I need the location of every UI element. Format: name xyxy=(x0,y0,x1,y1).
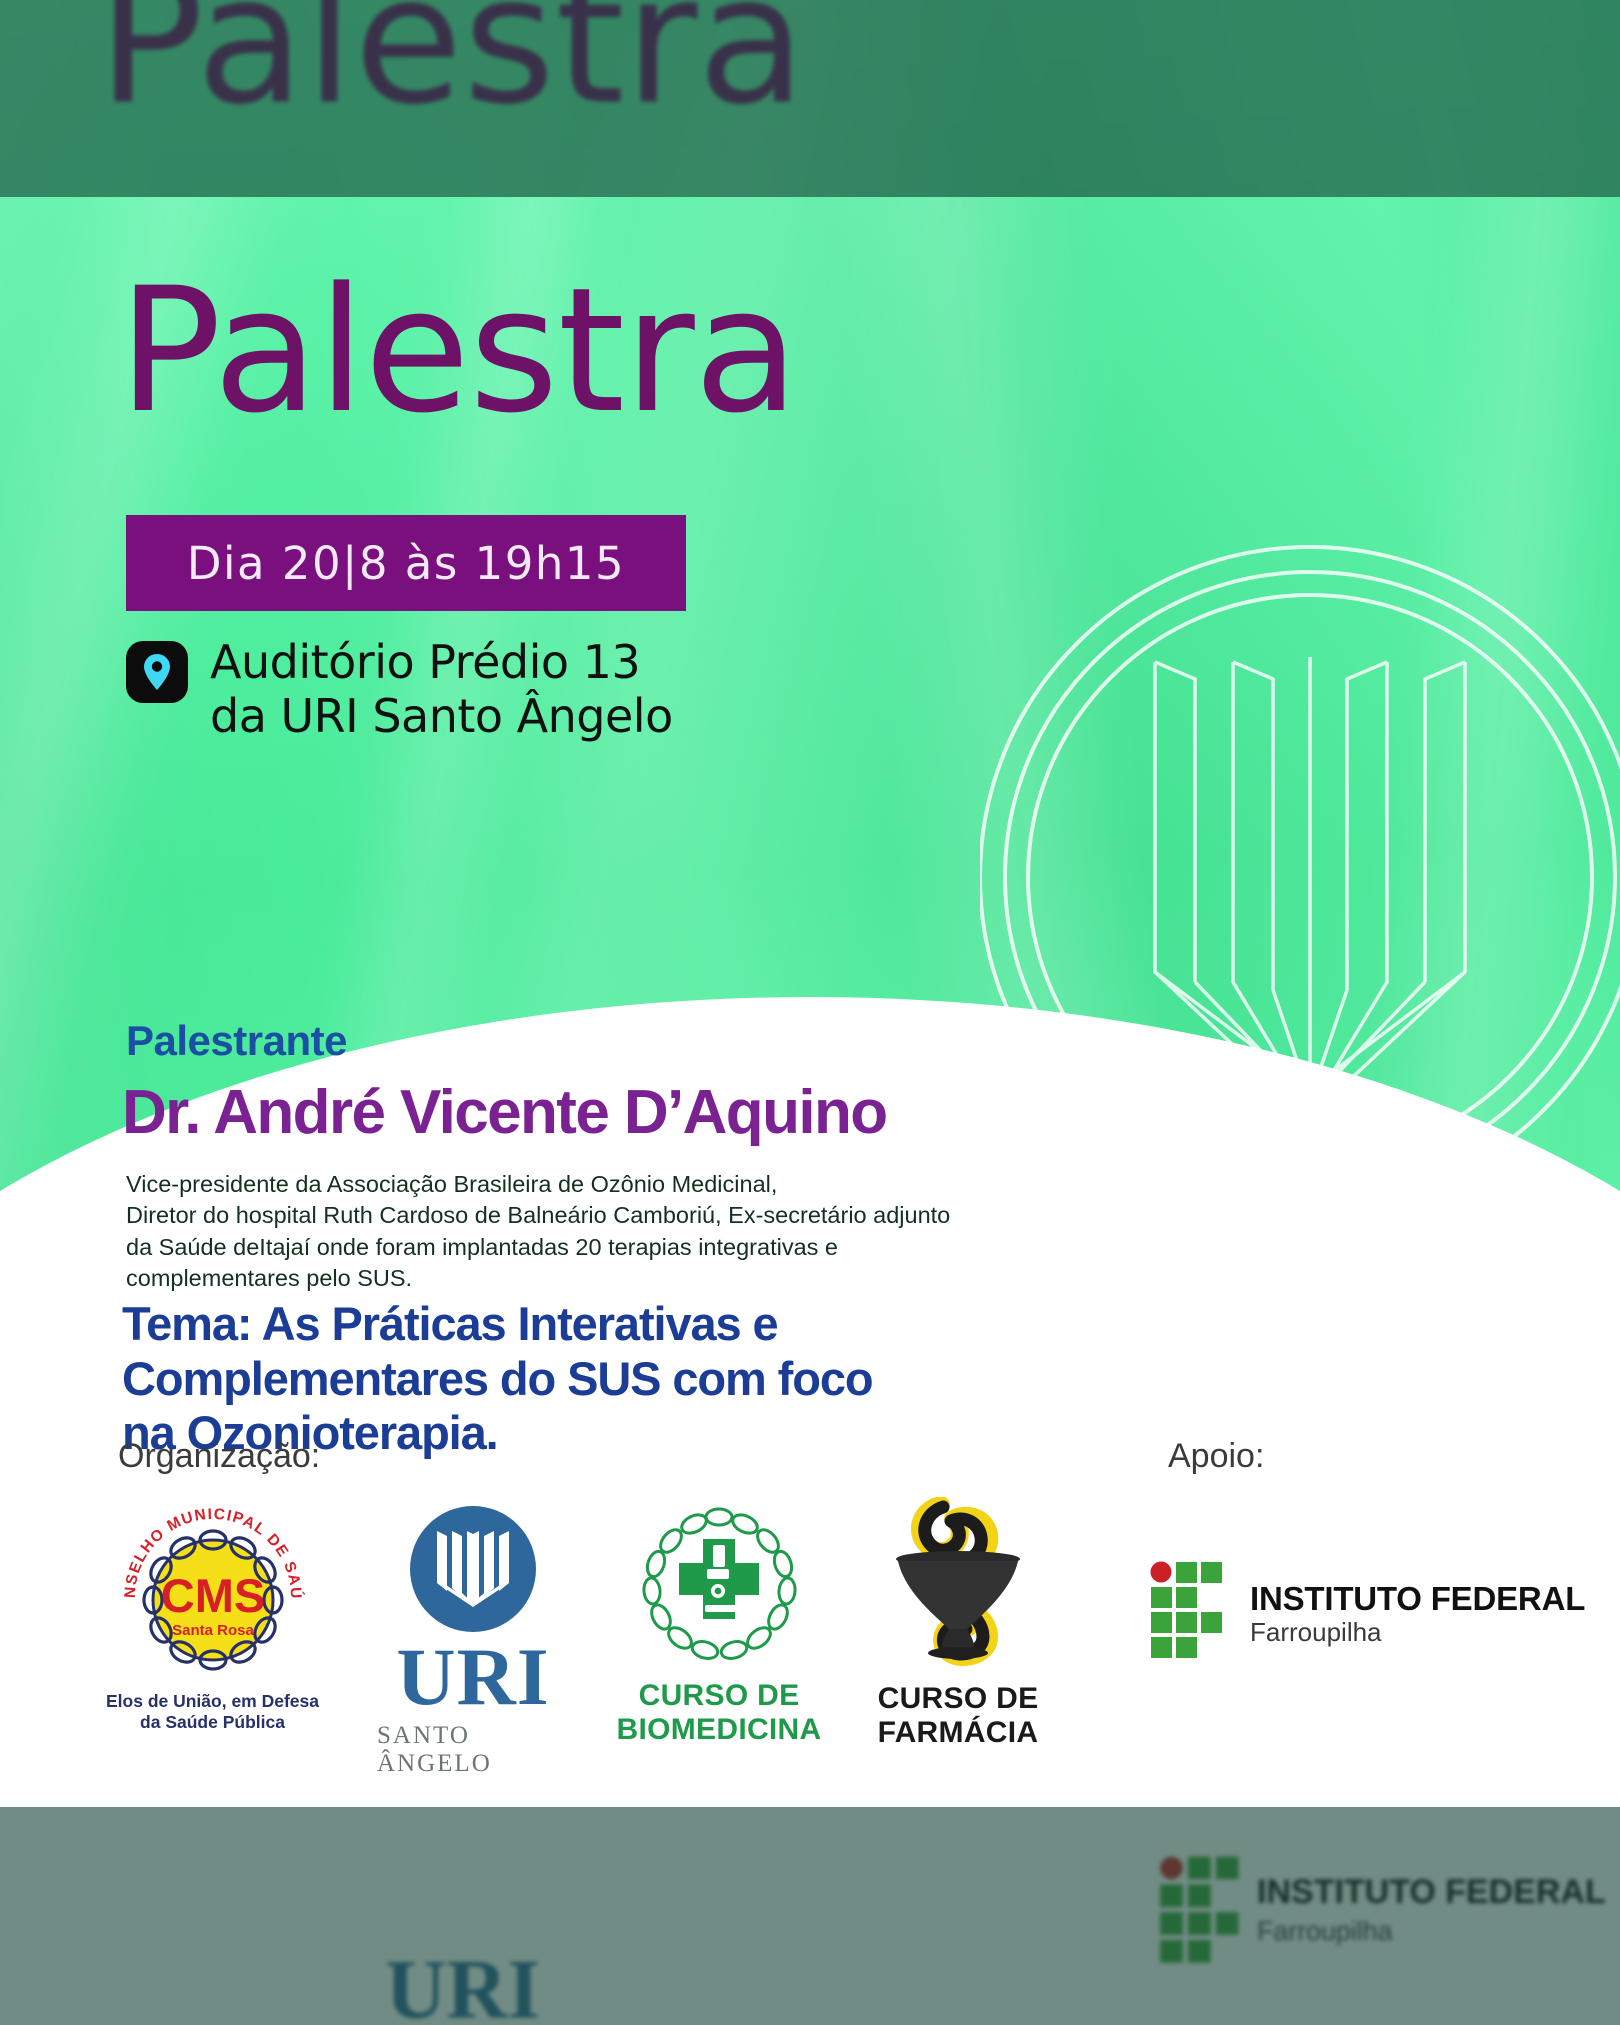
cms-emblem-icon: CONSELHO MUNICIPAL DE SAÚDE xyxy=(113,1495,313,1685)
speaker-label: Palestrante xyxy=(126,1017,347,1065)
page-title: Palestra xyxy=(118,269,798,432)
biomedicina-line-1: CURSO DE xyxy=(617,1679,822,1713)
uri-book-icon xyxy=(407,1503,539,1635)
biomedicina-line-2: BIOMEDICINA xyxy=(617,1713,822,1747)
poster-artwork: Palestra Dia 20|8 às 19h15 Auditório Pré… xyxy=(0,197,1620,1807)
date-badge-text: Dia 20|8 às 19h15 xyxy=(187,537,625,590)
instituto-federal-name: INSTITUTO FEDERAL xyxy=(1250,1582,1585,1615)
farmacia-hygieia-bowl-icon xyxy=(883,1497,1033,1672)
instituto-federal-text: INSTITUTO FEDERAL Farroupilha xyxy=(1250,1582,1585,1645)
poster-stage: Palestra Elos de União, em Defesa da Saú… xyxy=(0,0,1620,2025)
theme-line-1: Tema: As Práticas Interativas e xyxy=(122,1297,778,1350)
uri-wordmark: URI xyxy=(396,1639,549,1714)
date-badge: Dia 20|8 às 19h15 xyxy=(126,515,686,611)
bg-if-main: INSTITUTO FEDERAL xyxy=(1257,1872,1606,1911)
instituto-federal-campus: Farroupilha xyxy=(1250,1619,1585,1645)
theme-line-2: Complementares do SUS com foco xyxy=(122,1352,873,1405)
logo-cms: CONSELHO MUNICIPAL DE SAÚDE xyxy=(100,1495,325,1732)
uri-campus: SANTO ÂNGELO xyxy=(377,1722,569,1778)
location-block: Auditório Prédio 13 da URI Santo Ângelo xyxy=(126,635,673,744)
cms-tagline-line-1: Elos de União, em Defesa xyxy=(106,1691,319,1712)
logo-biomedicina: CURSO DE BIOMEDICINA xyxy=(621,1495,817,1746)
cms-city: Santa Rosa xyxy=(172,1622,254,1639)
biomedicina-microscope-cross-icon xyxy=(635,1501,803,1669)
bio-line-4: complementares pelo SUS. xyxy=(126,1265,412,1291)
farmacia-line-2: FARMÁCIA xyxy=(878,1716,1039,1750)
farmacia-label: CURSO DE FARMÁCIA xyxy=(878,1682,1039,1749)
location-line-2: da URI Santo Ângelo xyxy=(210,689,673,743)
location-text: Auditório Prédio 13 da URI Santo Ângelo xyxy=(210,635,673,744)
location-line-1: Auditório Prédio 13 xyxy=(210,635,640,689)
farmacia-line-1: CURSO DE xyxy=(878,1682,1039,1716)
poster-content: Palestra Dia 20|8 às 19h15 Auditório Pré… xyxy=(0,197,1620,1807)
footer-section: Organização: Apoio: CONSELHO MUNICIPAL D… xyxy=(0,1417,1620,1807)
bio-line-3: da Saúde deItajaí onde foram implantadas… xyxy=(126,1234,838,1260)
background-if-logo: INSTITUTO FEDERAL Farroupilha xyxy=(1160,1857,1606,1963)
background-footer-logos: Elos de União, em Defesa da Saúde Públic… xyxy=(79,1950,1054,2025)
cms-acronym: CMS xyxy=(160,1569,264,1622)
cms-tagline-line-2: da Saúde Pública xyxy=(106,1712,319,1733)
map-pin-icon xyxy=(126,641,188,703)
background-title-echo: Palestra xyxy=(97,0,806,125)
bg-uri-word: URI xyxy=(364,1950,562,2025)
bio-line-2: Diretor do hospital Ruth Cardoso de Baln… xyxy=(126,1202,950,1228)
organizer-logos: CONSELHO MUNICIPAL DE SAÚDE xyxy=(100,1495,1047,1778)
bio-line-1: Vice-presidente da Associação Brasileira… xyxy=(126,1171,777,1197)
instituto-federal-mark-icon xyxy=(1150,1561,1232,1666)
cms-tagline: Elos de União, em Defesa da Saúde Públic… xyxy=(106,1691,319,1732)
logo-instituto-federal: INSTITUTO FEDERAL Farroupilha xyxy=(1150,1561,1585,1666)
bg-if-sub: Farroupilha xyxy=(1257,1915,1606,1947)
speaker-bio: Vice-presidente da Associação Brasileira… xyxy=(126,1169,1086,1294)
speaker-name: Dr. André Vicente D’Aquino xyxy=(122,1077,887,1148)
organization-label: Organização: xyxy=(118,1437,320,1476)
biomedicina-label: CURSO DE BIOMEDICINA xyxy=(617,1679,822,1746)
support-label: Apoio: xyxy=(1168,1437,1264,1476)
logo-farmacia: CURSO DE FARMÁCIA xyxy=(869,1495,1047,1749)
logo-uri: URI SANTO ÂNGELO xyxy=(377,1495,569,1778)
